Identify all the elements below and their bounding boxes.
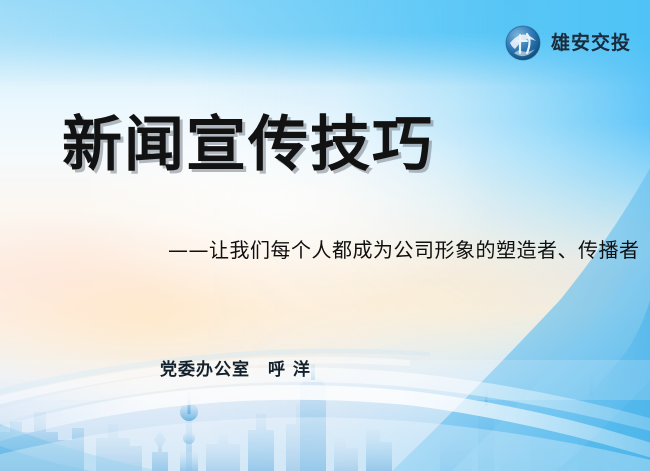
background-decor-svg <box>0 0 650 471</box>
brand-logo: 雄安交投 <box>503 23 631 63</box>
subtitle: ——让我们每个人都成为公司形象的塑造者、传播者 <box>168 238 638 263</box>
page-title: 新闻宣传技巧 <box>62 112 434 178</box>
title-slide: 雄安交投 新闻宣传技巧 ——让我们每个人都成为公司形象的塑造者、传播者 党委办公… <box>0 0 650 471</box>
xiongan-jiaotou-circle-logo-icon <box>503 23 543 63</box>
brand-name: 雄安交投 <box>551 34 631 53</box>
presenter-line: 党委办公室 呼 洋 <box>160 355 311 380</box>
